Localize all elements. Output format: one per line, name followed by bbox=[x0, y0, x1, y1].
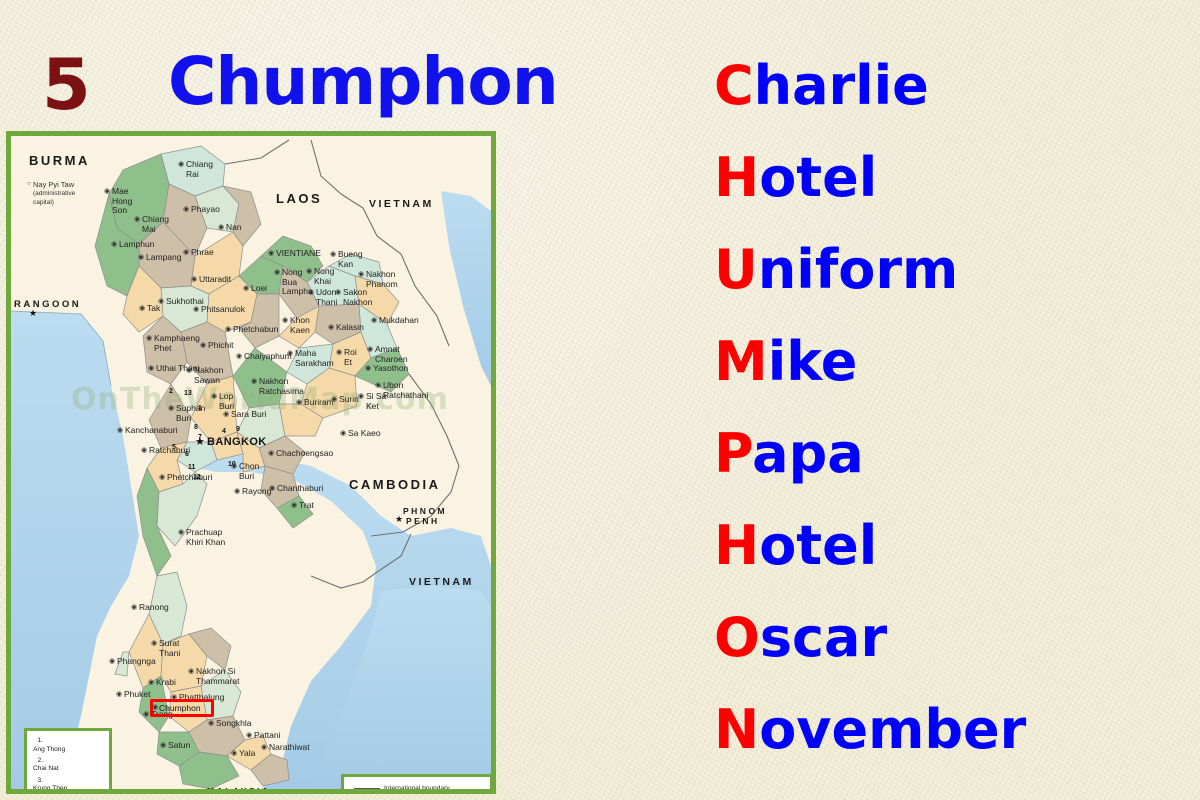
admin-note-line-0: Nay Pyi Taw bbox=[33, 180, 75, 189]
country-label-penh-6: PENH bbox=[406, 516, 440, 526]
admin-note-line-2: capital) bbox=[33, 198, 75, 207]
province-capital-dot-icon: ◉ bbox=[139, 305, 145, 312]
map-legend-box: International boundaryProvince (changwat… bbox=[341, 774, 493, 794]
city-label-lampang: Lampang bbox=[146, 253, 181, 263]
city-label-nakhon-si: Nakhon SiThammarat bbox=[196, 667, 239, 686]
city-label-line: Sawan bbox=[194, 376, 223, 386]
province-index-name: Krung Thep Mahanakhon (Bangkok) bbox=[33, 785, 101, 794]
phonetic-word-rest: otel bbox=[759, 514, 877, 577]
country-label-burma-0: BURMA bbox=[29, 153, 90, 168]
city-label-kalasin: Kalasin bbox=[336, 323, 364, 333]
city-label-line: Ket bbox=[366, 402, 386, 412]
map-canvas: OnTheWorldMap.com BURMALAOSVIETNAMRANGOO… bbox=[11, 136, 491, 789]
city-label-nakhon: NakhonSawan bbox=[194, 366, 223, 385]
city-label-sakon: SakonNakhon bbox=[343, 288, 372, 307]
city-label-line: Lampang bbox=[146, 253, 181, 263]
city-label-trat: Trat bbox=[299, 501, 314, 511]
city-label-line: Chachoengsao bbox=[276, 449, 333, 459]
city-label-line: Pattani bbox=[254, 731, 280, 741]
city-label-yasothon: Yasothon bbox=[373, 364, 408, 374]
province-capital-dot-icon: ◉ bbox=[208, 720, 214, 727]
city-label-phayao: Phayao bbox=[191, 205, 220, 215]
city-label-line: Khiri Khan bbox=[186, 538, 225, 548]
phonetic-word-rest: niform bbox=[758, 238, 958, 301]
phonetic-first-letter: O bbox=[714, 606, 760, 669]
city-label-line: Buriram bbox=[304, 398, 334, 408]
province-index-name: Ang Thong bbox=[33, 746, 101, 755]
numbered-marker-4: 4 bbox=[222, 428, 226, 435]
province-capital-dot-icon: ◉ bbox=[134, 216, 140, 223]
city-label-line: Kalasin bbox=[336, 323, 364, 333]
city-label-line: Phitsanulok bbox=[201, 305, 245, 315]
city-label-line: Ratchasima bbox=[259, 387, 304, 397]
city-label-line: Ranong bbox=[139, 603, 169, 613]
city-label-line: Nakhon bbox=[343, 298, 372, 308]
province-capital-dot-icon: ◉ bbox=[158, 298, 164, 305]
bangkok-label: BANGKOK bbox=[207, 436, 267, 448]
city-label-line: Son bbox=[112, 206, 132, 216]
country-label-malaysia-9: MALAYSIA bbox=[207, 786, 271, 794]
legend-label: International boundary bbox=[384, 785, 450, 792]
phonetic-first-letter: H bbox=[714, 514, 759, 577]
city-label-phangnga: Phangnga bbox=[117, 657, 156, 667]
phonetic-row-h-1: Hotel bbox=[714, 132, 1184, 224]
city-label-mukdahan: Mukdahan bbox=[379, 316, 419, 326]
city-label-nakhon: NakhonPhanom bbox=[366, 270, 398, 289]
province-capital-dot-icon: ◉ bbox=[246, 732, 252, 739]
province-capital-dot-icon: ◉ bbox=[183, 206, 189, 213]
numbered-marker-6: 6 bbox=[185, 451, 189, 458]
province-capital-dot-icon: ◉ bbox=[141, 447, 147, 454]
province-capital-dot-icon: ◉ bbox=[358, 393, 364, 400]
province-capital-dot-icon: ◉ bbox=[251, 378, 257, 385]
admin-note-line-1: (administrative bbox=[33, 189, 75, 198]
province-capital-dot-icon: ◉ bbox=[104, 188, 110, 195]
city-label-line: Songkhla bbox=[216, 719, 251, 729]
province-capital-dot-icon: ◉ bbox=[268, 450, 274, 457]
city-label-chiang: ChiangRai bbox=[186, 160, 213, 179]
page-title: Chumphon bbox=[168, 49, 558, 115]
city-label-line: Krabi bbox=[156, 678, 176, 688]
phonetic-row-c-0: Charlie bbox=[714, 40, 1184, 132]
province-capital-dot-icon: ◉ bbox=[116, 691, 122, 698]
legend-rows: International boundaryProvince (changwat… bbox=[350, 783, 484, 794]
province-capital-dot-icon: ◉ bbox=[358, 271, 364, 278]
city-label-nong: NongKhai bbox=[314, 267, 334, 286]
phonetic-word-rest: apa bbox=[752, 422, 864, 485]
province-capital-dot-icon: ◉ bbox=[200, 342, 206, 349]
phonetic-word-rest: scar bbox=[760, 606, 887, 669]
province-capital-dot-icon: ◉ bbox=[159, 474, 165, 481]
city-label-line: Sarakham bbox=[295, 359, 334, 369]
province-capital-dot-icon: ◉ bbox=[287, 350, 293, 357]
bangkok-star-icon: ★ bbox=[195, 435, 205, 448]
city-label-line: Kan bbox=[338, 260, 363, 270]
city-label-line: Mukdahan bbox=[379, 316, 419, 326]
phonetic-word-rest: ike bbox=[768, 330, 858, 393]
legend-row-line: International boundary bbox=[350, 783, 484, 794]
city-label-line: Thani bbox=[316, 298, 337, 308]
city-label-amnat: AmnatCharoen bbox=[375, 345, 408, 364]
rangoon-star-icon: ★ bbox=[29, 308, 37, 319]
country-label-laos-1: LAOS bbox=[276, 191, 322, 206]
slide-number: 5 bbox=[42, 50, 91, 120]
province-capital-dot-icon: ◉ bbox=[331, 396, 337, 403]
city-label-line: Phangnga bbox=[117, 657, 156, 667]
province-capital-dot-icon: ◉ bbox=[296, 399, 302, 406]
numbered-marker-9: 9 bbox=[236, 426, 240, 433]
city-label-buriram: Buriram bbox=[304, 398, 334, 408]
nay-pyi-taw-note: Nay Pyi Taw(administrativecapital) bbox=[33, 180, 75, 207]
province-capital-dot-icon: ◉ bbox=[193, 306, 199, 313]
province-capital-dot-icon: ◉ bbox=[367, 346, 373, 353]
city-label-kanchanaburi: Kanchanaburi bbox=[125, 426, 177, 436]
city-label-line: Kanchanaburi bbox=[125, 426, 177, 436]
phonetic-word-rest: ovember bbox=[759, 698, 1026, 761]
province-capital-dot-icon: ◉ bbox=[223, 411, 229, 418]
city-label-lamphun: Lamphun bbox=[119, 240, 154, 250]
city-label-chiang: ChiangMai bbox=[142, 215, 169, 234]
city-label-line: Rayong bbox=[242, 487, 271, 497]
chumphon-highlight-label: Chumphon bbox=[159, 703, 201, 713]
phonetic-first-letter: N bbox=[714, 698, 759, 761]
numbered-marker-11: 11 bbox=[188, 464, 195, 471]
city-label-line: Phayao bbox=[191, 205, 220, 215]
province-capital-dot-icon: ◉ bbox=[211, 393, 217, 400]
city-label-sara-buri: Sara Buri bbox=[231, 410, 266, 420]
city-label-vientiane: VIENTIANE bbox=[276, 249, 321, 259]
city-label-line: Phetchabun bbox=[233, 325, 278, 335]
city-label-line: Loei bbox=[251, 284, 267, 294]
province-capital-dot-icon: ◉ bbox=[328, 324, 334, 331]
province-capital-dot-icon: ◉ bbox=[243, 285, 249, 292]
international-boundary-line-icon bbox=[354, 788, 380, 789]
city-label-line: Khai bbox=[314, 277, 334, 287]
province-capital-dot-icon: ◉ bbox=[178, 161, 184, 168]
province-capital-dot-icon: ◉ bbox=[111, 241, 117, 248]
city-label-line: Et bbox=[344, 358, 357, 368]
numbered-marker-13: 13 bbox=[184, 390, 192, 397]
city-label-kamphaeng: KamphaengPhet bbox=[154, 334, 200, 353]
province-capital-dot-icon: ◉ bbox=[148, 365, 154, 372]
city-label-line: Yala bbox=[239, 749, 255, 759]
city-label-line: Thani bbox=[159, 649, 180, 659]
province-capital-dot-icon: ◉ bbox=[146, 335, 152, 342]
province-capital-dot-icon: ◉ bbox=[178, 529, 184, 536]
city-label-line: Satun bbox=[168, 741, 190, 751]
province-index-number: 3. bbox=[33, 777, 43, 786]
province-index-number: 2. bbox=[33, 757, 43, 766]
province-capital-dot-icon: ◉ bbox=[330, 251, 336, 258]
country-label-vietnam-7: VIETNAM bbox=[409, 576, 474, 588]
phonetic-row-o-6: Oscar bbox=[714, 592, 1184, 684]
city-label-line: Thammarat bbox=[196, 677, 239, 687]
phonetic-word-rest: otel bbox=[759, 146, 877, 209]
phonetic-first-letter: M bbox=[714, 330, 768, 393]
numbered-marker-1: 1 bbox=[198, 405, 202, 412]
phonetic-row-p-4: Papa bbox=[714, 408, 1184, 500]
city-label-line: Phichit bbox=[208, 341, 234, 351]
province-index-item: 1.Ang Thong bbox=[33, 737, 105, 754]
province-capital-dot-icon: ◉ bbox=[291, 502, 297, 509]
city-label-pattani: Pattani bbox=[254, 731, 280, 741]
province-capital-dot-icon: ◉ bbox=[138, 254, 144, 261]
city-label-line: Ratchaburi bbox=[149, 446, 190, 456]
province-capital-dot-icon: ◉ bbox=[308, 289, 314, 296]
city-label-line: Buri bbox=[176, 414, 205, 424]
city-label-line: Kaen bbox=[290, 326, 310, 336]
country-label-cambodia-4: CAMBODIA bbox=[349, 477, 441, 492]
chumphon-capital-dot-icon: ◉ bbox=[152, 703, 158, 711]
city-label-chachoengsao: Chachoengsao bbox=[276, 449, 333, 459]
province-capital-dot-icon: ◉ bbox=[186, 367, 192, 374]
province-capital-dot-icon: ◉ bbox=[191, 276, 197, 283]
country-label-phnom-5: PHNOM bbox=[403, 506, 447, 516]
phonetic-row-m-3: Mike bbox=[714, 316, 1184, 408]
province-capital-dot-icon: ◉ bbox=[236, 353, 242, 360]
province-capital-dot-icon: ◉ bbox=[375, 382, 381, 389]
province-capital-dot-icon: ◉ bbox=[160, 742, 166, 749]
city-label-nakhon: NakhonRatchasima bbox=[259, 377, 304, 396]
province-capital-dot-icon: ◉ bbox=[109, 658, 115, 665]
city-label-maha: MahaSarakham bbox=[295, 349, 334, 368]
city-label-line: Phetchaburi bbox=[167, 473, 212, 483]
city-label-line: Phuket bbox=[124, 690, 150, 700]
numbered-marker-12: 12 bbox=[193, 474, 201, 481]
city-label-tak: Tak bbox=[147, 304, 160, 314]
province-capital-dot-icon: ◉ bbox=[148, 679, 154, 686]
country-label-rangoon-3: RANGOON bbox=[14, 299, 81, 310]
city-label-phrae: Phrae bbox=[191, 248, 214, 258]
city-label-line: Surin bbox=[339, 395, 359, 405]
phonetic-first-letter: U bbox=[714, 238, 758, 301]
province-capital-dot-icon: ◉ bbox=[143, 711, 149, 718]
province-capital-dot-icon: ◉ bbox=[183, 249, 189, 256]
city-label-line: Yasothon bbox=[373, 364, 408, 374]
city-label-chanthaburi: Chanthaburi bbox=[277, 484, 323, 494]
province-capital-dot-icon: ◉ bbox=[218, 224, 224, 231]
city-label-line: Phrae bbox=[191, 248, 214, 258]
city-label-line: Buri bbox=[239, 472, 259, 482]
province-capital-dot-icon: ◉ bbox=[234, 488, 240, 495]
city-label-line: Phet bbox=[154, 344, 200, 354]
phonetic-row-n-7: November bbox=[714, 684, 1184, 776]
city-label-prachuap: PrachuapKhiri Khan bbox=[186, 528, 225, 547]
city-label-line: Narathiwat bbox=[269, 743, 310, 753]
city-label-rayong: Rayong bbox=[242, 487, 271, 497]
city-label-bueng: BuengKan bbox=[338, 250, 363, 269]
province-capital-dot-icon: ◉ bbox=[282, 317, 288, 324]
city-label-line: Lamphun bbox=[119, 240, 154, 250]
city-label-line: Mai bbox=[142, 225, 169, 235]
city-label-roi: RoiEt bbox=[344, 348, 357, 367]
city-label-line: VIENTIANE bbox=[276, 249, 321, 259]
province-capital-dot-icon: ◉ bbox=[261, 744, 267, 751]
city-label-krabi: Krabi bbox=[156, 678, 176, 688]
province-index-list: 1.Ang Thong2.Chai Nat3.Krung Thep Mahana… bbox=[33, 737, 105, 794]
city-label-chaiyaphum: Chaiyaphum bbox=[244, 352, 292, 362]
province-capital-dot-icon: ◉ bbox=[231, 750, 237, 757]
city-label-surat: SuratThani bbox=[159, 639, 180, 658]
phonetic-first-letter: C bbox=[714, 54, 754, 117]
city-label-ranong: Ranong bbox=[139, 603, 169, 613]
province-capital-dot-icon: ◉ bbox=[365, 365, 371, 372]
thailand-map-figure: OnTheWorldMap.com BURMALAOSVIETNAMRANGOO… bbox=[6, 131, 496, 794]
city-label-narathiwat: Narathiwat bbox=[269, 743, 310, 753]
province-capital-dot-icon: ◉ bbox=[306, 268, 312, 275]
province-capital-dot-icon: ◉ bbox=[131, 604, 137, 611]
province-capital-dot-icon: ◉ bbox=[117, 427, 123, 434]
nay-pyi-taw-marker: ○ bbox=[27, 181, 31, 187]
city-label-phitsanulok: Phitsanulok bbox=[201, 305, 245, 315]
phnom-penh-star-icon: ★ bbox=[395, 514, 403, 525]
city-label-songkhla: Songkhla bbox=[216, 719, 251, 729]
numbered-marker-5: 5 bbox=[172, 444, 176, 451]
legend-symbol-line bbox=[350, 788, 384, 789]
city-label-line: Chaiyaphum bbox=[244, 352, 292, 362]
numbered-marker-10: 10 bbox=[228, 461, 236, 468]
phonetic-row-h-5: Hotel bbox=[714, 500, 1184, 592]
city-label-phichit: Phichit bbox=[208, 341, 234, 351]
city-label-line: Trat bbox=[299, 501, 314, 511]
province-capital-dot-icon: ◉ bbox=[188, 668, 194, 675]
city-label-line: Chanthaburi bbox=[277, 484, 323, 494]
city-label-line: Uttaradit bbox=[199, 275, 231, 285]
city-label-ubon: UbonRatchathani bbox=[383, 381, 428, 400]
phonetic-first-letter: H bbox=[714, 146, 759, 209]
province-index-item: 2.Chai Nat bbox=[33, 757, 105, 774]
city-label-phetchaburi: Phetchaburi bbox=[167, 473, 212, 483]
province-capital-dot-icon: ◉ bbox=[274, 269, 280, 276]
city-label-sa-kaeo: Sa Kaeo bbox=[348, 429, 381, 439]
province-capital-dot-icon: ◉ bbox=[340, 430, 346, 437]
province-index-name: Chai Nat bbox=[33, 765, 101, 774]
city-label-line: Uthai Thani bbox=[156, 364, 199, 374]
province-capital-dot-icon: ◉ bbox=[269, 485, 275, 492]
city-label-nan: Nan bbox=[226, 223, 242, 233]
city-label-phetchabun: Phetchabun bbox=[233, 325, 278, 335]
numbered-marker-2: 2 bbox=[169, 388, 173, 395]
city-label-surin: Surin bbox=[339, 395, 359, 405]
province-capital-dot-icon: ◉ bbox=[168, 405, 174, 412]
phonetic-row-u-2: Uniform bbox=[714, 224, 1184, 316]
province-capital-dot-icon: ◉ bbox=[268, 250, 274, 257]
city-label-satun: Satun bbox=[168, 741, 190, 751]
phonetic-first-letter: P bbox=[714, 422, 752, 485]
city-label-chon: ChonBuri bbox=[239, 462, 259, 481]
city-label-line: Sa Kaeo bbox=[348, 429, 381, 439]
numbered-marker-8: 8 bbox=[194, 424, 198, 431]
province-index-number: 1. bbox=[33, 737, 43, 746]
city-label-phuket: Phuket bbox=[124, 690, 150, 700]
province-capital-dot-icon: ◉ bbox=[225, 326, 231, 333]
city-label-khon: KhonKaen bbox=[290, 316, 310, 335]
city-label-mae: MaeHongSon bbox=[112, 187, 132, 216]
country-label-vietnam-2: VIETNAM bbox=[369, 198, 434, 210]
province-index-box: 1.Ang Thong2.Chai Nat3.Krung Thep Mahana… bbox=[24, 728, 112, 794]
province-capital-dot-icon: ◉ bbox=[371, 317, 377, 324]
city-label-line: Nan bbox=[226, 223, 242, 233]
province-index-item: 3.Krung Thep Mahanakhon (Bangkok) bbox=[33, 777, 105, 794]
city-label-uthai-thani: Uthai Thani bbox=[156, 364, 199, 374]
city-label-line: Tak bbox=[147, 304, 160, 314]
city-label-line: Sara Buri bbox=[231, 410, 266, 420]
city-label-yala: Yala bbox=[239, 749, 255, 759]
slide-header: 5 Chumphon bbox=[0, 22, 620, 122]
province-capital-dot-icon: ◉ bbox=[151, 640, 157, 647]
city-label-si-sa: Si SaKet bbox=[366, 392, 386, 411]
city-label-loei: Loei bbox=[251, 284, 267, 294]
city-label-ratchaburi: Ratchaburi bbox=[149, 446, 190, 456]
phonetic-word-rest: harlie bbox=[754, 54, 929, 117]
city-label-line: Ratchathani bbox=[383, 391, 428, 401]
province-capital-dot-icon: ◉ bbox=[335, 289, 341, 296]
province-capital-dot-icon: ◉ bbox=[336, 349, 342, 356]
city-label-line: Rai bbox=[186, 170, 213, 180]
city-label-uttaradit: Uttaradit bbox=[199, 275, 231, 285]
phonetic-spelling-list: CharlieHotelUniformMikePapaHotelOscarNov… bbox=[714, 40, 1184, 776]
